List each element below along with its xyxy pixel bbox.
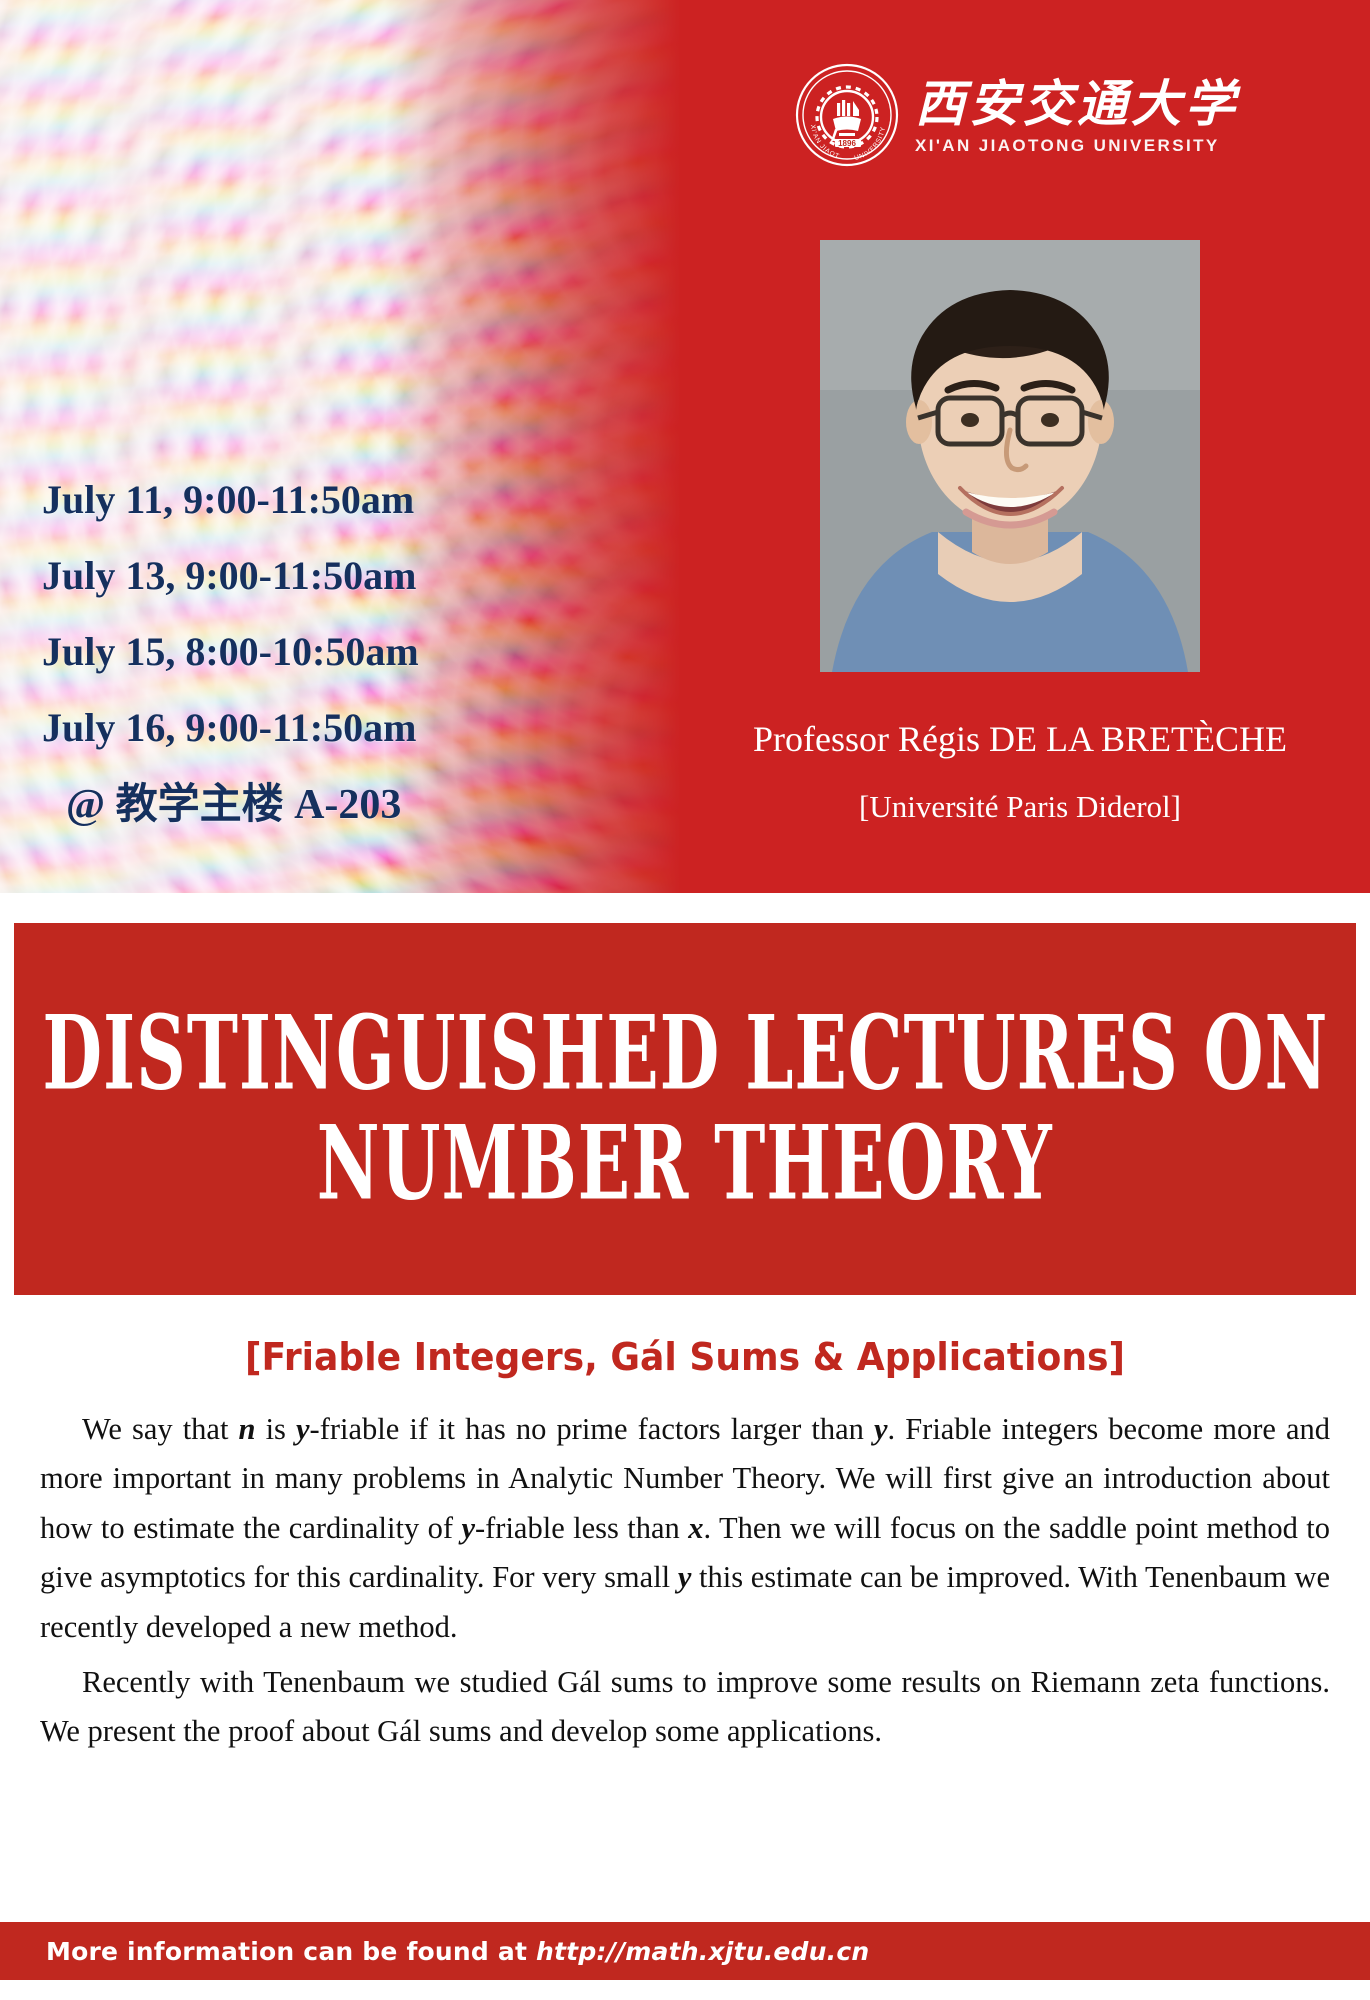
schedule-item: July 13, 9:00-11:50am bbox=[42, 556, 642, 596]
abstract-run: -friable less than bbox=[475, 1511, 688, 1545]
university-seal-icon: 1896 XI'AN JIAOTONG UNIVERSITY bbox=[795, 63, 899, 167]
abstract-paragraph-1: We say that n is y-friable if it has no … bbox=[40, 1405, 1330, 1652]
seal-text-left: XI'AN JIAOTONG bbox=[795, 63, 840, 160]
footer-text: More information can be found at http://… bbox=[0, 1937, 869, 1966]
title-band: DISTINGUISHED LECTURES ON NUMBER THEORY bbox=[14, 923, 1356, 1295]
venue-label: @ 教学主楼 A-203 bbox=[42, 784, 642, 826]
schedule-item: July 16, 9:00-11:50am bbox=[42, 708, 642, 748]
lecture-subject: [Friable Integers, Gál Sums & Applicatio… bbox=[34, 1335, 1336, 1379]
math-var-x: x bbox=[688, 1511, 703, 1545]
speaker-photo bbox=[820, 240, 1200, 672]
university-logo: 1896 XI'AN JIAOTONG UNIVERSITY 西安交通大学 XI… bbox=[795, 55, 1245, 175]
seal-year: 1896 bbox=[838, 139, 856, 148]
math-var-y: y bbox=[296, 1412, 310, 1446]
math-var-y: y bbox=[874, 1412, 888, 1446]
math-var-n: n bbox=[239, 1412, 256, 1446]
schedule-list: July 11, 9:00-11:50am July 13, 9:00-11:5… bbox=[42, 480, 642, 826]
poster-root: 1896 XI'AN JIAOTONG UNIVERSITY 西安交通大学 XI… bbox=[0, 0, 1370, 2000]
abstract-paragraph-2: Recently with Tenenbaum we studied Gál s… bbox=[40, 1658, 1330, 1757]
math-var-y: y bbox=[461, 1511, 475, 1545]
footer-bar: More information can be found at http://… bbox=[0, 1922, 1370, 1980]
abstract-run: -friable if it has no prime factors larg… bbox=[310, 1412, 874, 1446]
top-banner: 1896 XI'AN JIAOTONG UNIVERSITY 西安交通大学 XI… bbox=[0, 0, 1370, 893]
poster-title-line2: NUMBER THEORY bbox=[317, 1113, 1053, 1215]
abstract-run: We say that bbox=[82, 1412, 239, 1446]
poster-title-line1: DISTINGUISHED LECTURES ON bbox=[42, 1003, 1328, 1105]
schedule-item: July 11, 9:00-11:50am bbox=[42, 480, 642, 520]
math-var-y: y bbox=[678, 1560, 692, 1594]
university-name-en: XI'AN JIAOTONG UNIVERSITY bbox=[915, 136, 1239, 156]
speaker-affiliation: [Université Paris Diderol] bbox=[690, 790, 1350, 823]
abstract-run: is bbox=[255, 1412, 296, 1446]
university-name-cn: 西安交通大学 bbox=[915, 78, 1239, 131]
abstract-text: We say that n is y-friable if it has no … bbox=[40, 1405, 1330, 1763]
footer-prefix: More information can be found at bbox=[46, 1937, 536, 1966]
footer-url[interactable]: http://math.xjtu.edu.cn bbox=[536, 1937, 869, 1966]
speaker-name: Professor Régis DE LA BRETÈCHE bbox=[690, 720, 1350, 759]
svg-text:XI'AN JIAOTONG: XI'AN JIAOTONG bbox=[795, 63, 840, 160]
university-name-block: 西安交通大学 XI'AN JIAOTONG UNIVERSITY bbox=[915, 74, 1239, 156]
schedule-item: July 15, 8:00-10:50am bbox=[42, 632, 642, 672]
